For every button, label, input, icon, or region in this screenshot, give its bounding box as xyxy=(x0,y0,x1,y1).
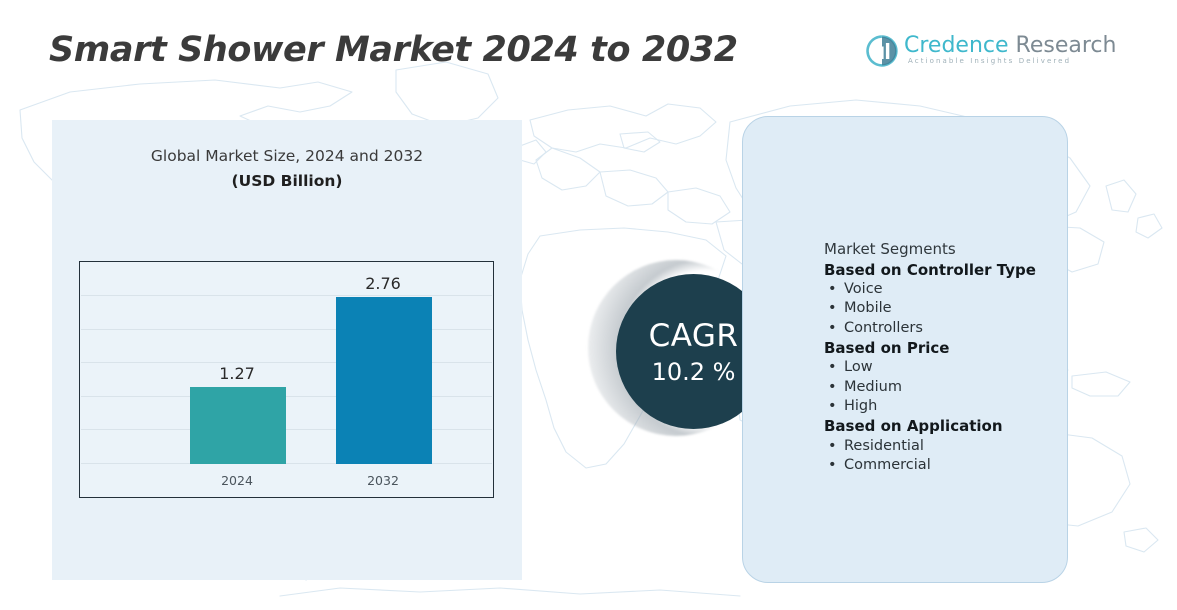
bar-2032 xyxy=(336,297,432,464)
bar-value-label: 2.76 xyxy=(305,274,461,293)
bullet-icon: • xyxy=(828,397,844,416)
segment-group-heading: Based on Price xyxy=(824,339,1074,359)
bullet-icon: • xyxy=(828,299,844,318)
segment-group-heading: Based on Controller Type xyxy=(824,261,1074,281)
cagr-label: CAGR xyxy=(649,318,739,354)
segment-item-label: Residential xyxy=(844,438,924,454)
infographic-canvas: Smart Shower Market 2024 to 2032 Credenc… xyxy=(0,0,1177,610)
segment-group-heading: Based on Application xyxy=(824,417,1074,437)
bullet-icon: • xyxy=(828,319,844,338)
segment-item-label: Commercial xyxy=(844,457,931,473)
segment-item: •Mobile xyxy=(828,299,1074,318)
segment-item-label: Low xyxy=(844,359,873,375)
page-title: Smart Shower Market 2024 to 2032 xyxy=(49,30,738,70)
bullet-icon: • xyxy=(828,280,844,299)
bar-category-label: 2032 xyxy=(305,473,461,488)
brand-logo: Credence Research Actionable Insights De… xyxy=(866,33,1061,71)
bar-chart-circle-icon xyxy=(866,35,898,67)
segment-item-label: Mobile xyxy=(844,300,892,316)
segment-item: •High xyxy=(828,397,1074,416)
chart-title: Global Market Size, 2024 and 2032 xyxy=(52,147,522,165)
bar-category-label: 2024 xyxy=(159,473,315,488)
segment-item-label: Voice xyxy=(844,281,883,297)
segment-item: •Commercial xyxy=(828,456,1074,475)
brand-name-secondary: Research xyxy=(1016,33,1117,58)
bar-value-label: 1.27 xyxy=(159,364,315,383)
segment-groups: Based on Controller Type•Voice•Mobile•Co… xyxy=(824,261,1074,476)
bullet-icon: • xyxy=(828,437,844,456)
segment-item-label: Medium xyxy=(844,379,902,395)
brand-wordmark: Credence Research xyxy=(904,33,1116,58)
brand-tagline: Actionable Insights Delivered xyxy=(908,57,1071,65)
chart-subtitle: (USD Billion) xyxy=(52,172,522,190)
bullet-icon: • xyxy=(828,358,844,377)
segment-item: •Low xyxy=(828,358,1074,377)
segment-item: •Medium xyxy=(828,378,1074,397)
segment-item: •Residential xyxy=(828,437,1074,456)
bullet-icon: • xyxy=(828,378,844,397)
market-segments-list: Market Segments Based on Controller Type… xyxy=(824,240,1074,475)
cagr-value: 10.2 % xyxy=(652,358,736,386)
segment-item: •Voice xyxy=(828,280,1074,299)
bar-2024 xyxy=(190,387,286,464)
bullet-icon: • xyxy=(828,456,844,475)
brand-name-primary: Credence xyxy=(904,33,1009,58)
segment-item-label: Controllers xyxy=(844,320,923,336)
segments-heading: Market Segments xyxy=(824,240,1074,260)
segment-item-label: High xyxy=(844,398,877,414)
gridline xyxy=(81,295,492,296)
segment-item: •Controllers xyxy=(828,319,1074,338)
